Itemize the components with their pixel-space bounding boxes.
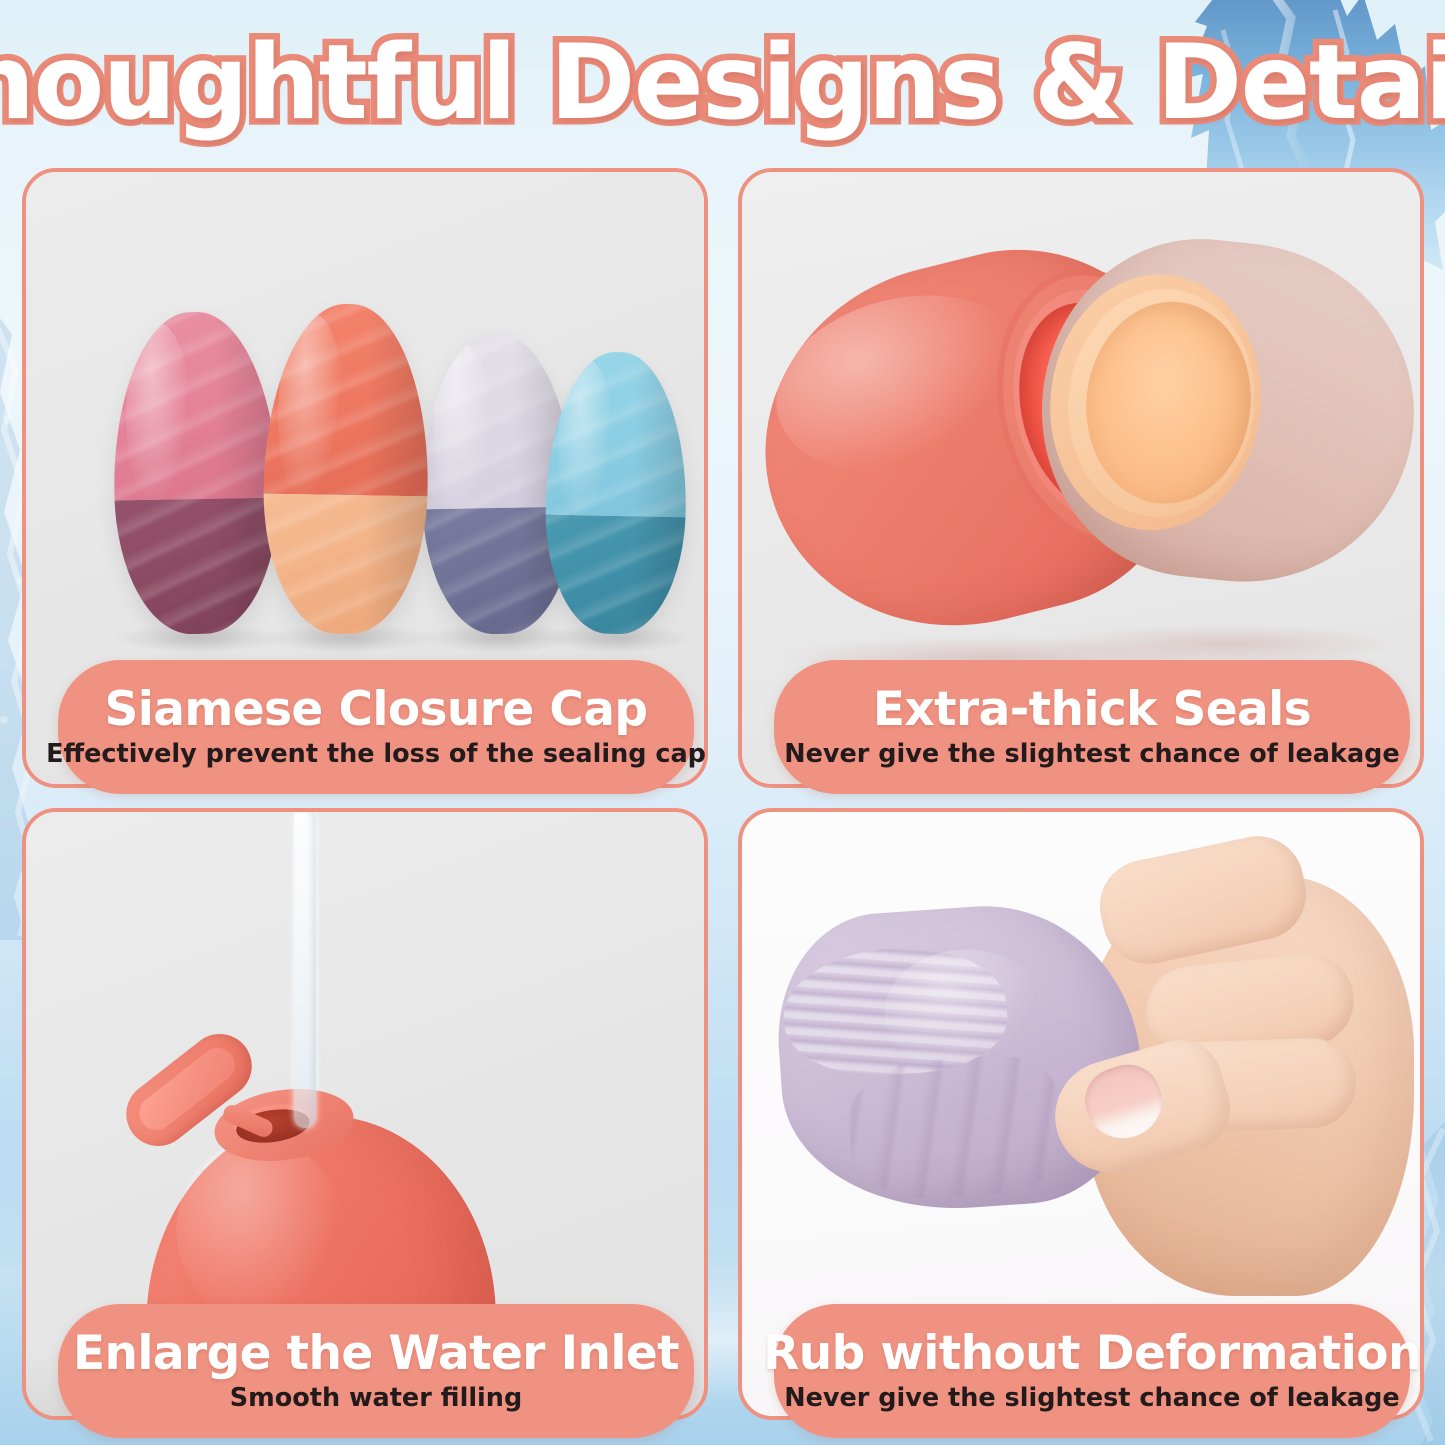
bottle-skyblue-teal xyxy=(544,351,689,635)
feature-subtitle: Never give the slightest chance of leaka… xyxy=(784,740,1399,768)
bottle-peach-seal xyxy=(1025,223,1420,598)
feature-title: Rub without Deformation xyxy=(763,1330,1421,1378)
feature-label-extra-thick-seals: Extra-thick Seals Never give the slighte… xyxy=(774,660,1410,794)
feature-label-rub-without-deformation: Rub without Deformation Never give the s… xyxy=(774,1304,1410,1438)
feature-title: Siamese Closure Cap xyxy=(105,686,648,734)
feature-title: Extra-thick Seals xyxy=(873,686,1311,734)
infographic-root: Thoughtful Designs & Details xyxy=(0,0,1445,1445)
feature-label-siamese-closure-cap: Siamese Closure Cap Effectively prevent … xyxy=(58,660,694,794)
bottle-coral-peach xyxy=(261,303,431,636)
water-stream-icon xyxy=(294,812,316,1128)
page-title: Thoughtful Designs & Details xyxy=(0,32,1445,135)
page-title-container: Thoughtful Designs & Details xyxy=(0,18,1445,148)
feature-subtitle: Effectively prevent the loss of the seal… xyxy=(46,740,706,768)
bottle-pink-maroon xyxy=(111,311,281,636)
bottle-lavender-squeezed xyxy=(770,896,1150,1220)
feature-subtitle: Smooth water filling xyxy=(230,1384,522,1412)
feature-subtitle: Never give the slightest chance of leaka… xyxy=(784,1384,1399,1412)
feature-label-enlarge-water-inlet: Enlarge the Water Inlet Smooth water fil… xyxy=(58,1304,694,1438)
feature-title: Enlarge the Water Inlet xyxy=(73,1330,679,1378)
